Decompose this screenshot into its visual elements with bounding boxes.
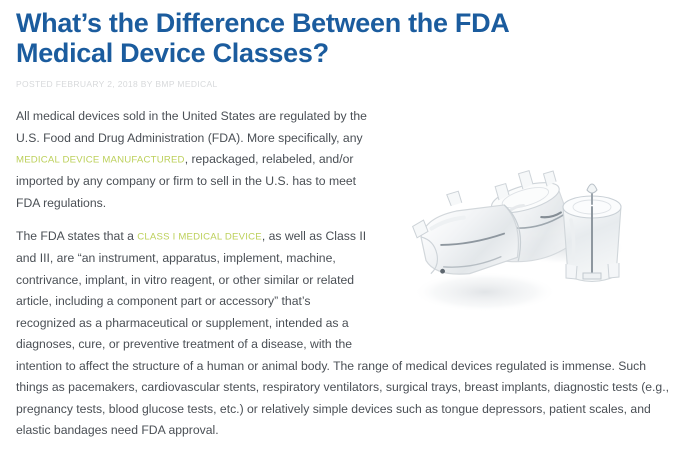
post-meta-byline: POSTED FEBRUARY 2, 2018 BY BMP MEDICAL	[16, 78, 669, 90]
article-body: All medical devices sold in the United S…	[0, 106, 685, 454]
paragraph-one-text-before: All medical devices sold in the United S…	[16, 109, 367, 145]
clear-plastic-components-illustration	[393, 140, 665, 345]
article-header: What’s the Difference Between the FDA Me…	[0, 0, 685, 90]
medical-device-manufactured-link[interactable]: MEDICAL DEVICE MANUFACTURED	[16, 155, 185, 166]
product-photo	[393, 140, 665, 345]
class-i-medical-device-link[interactable]: CLASS I MEDICAL DEVICE	[137, 232, 262, 243]
page-title: What’s the Difference Between the FDA Me…	[16, 8, 576, 68]
blog-post-page: What’s the Difference Between the FDA Me…	[0, 0, 685, 450]
paragraph-two-text-before: The FDA states that a	[16, 229, 137, 243]
